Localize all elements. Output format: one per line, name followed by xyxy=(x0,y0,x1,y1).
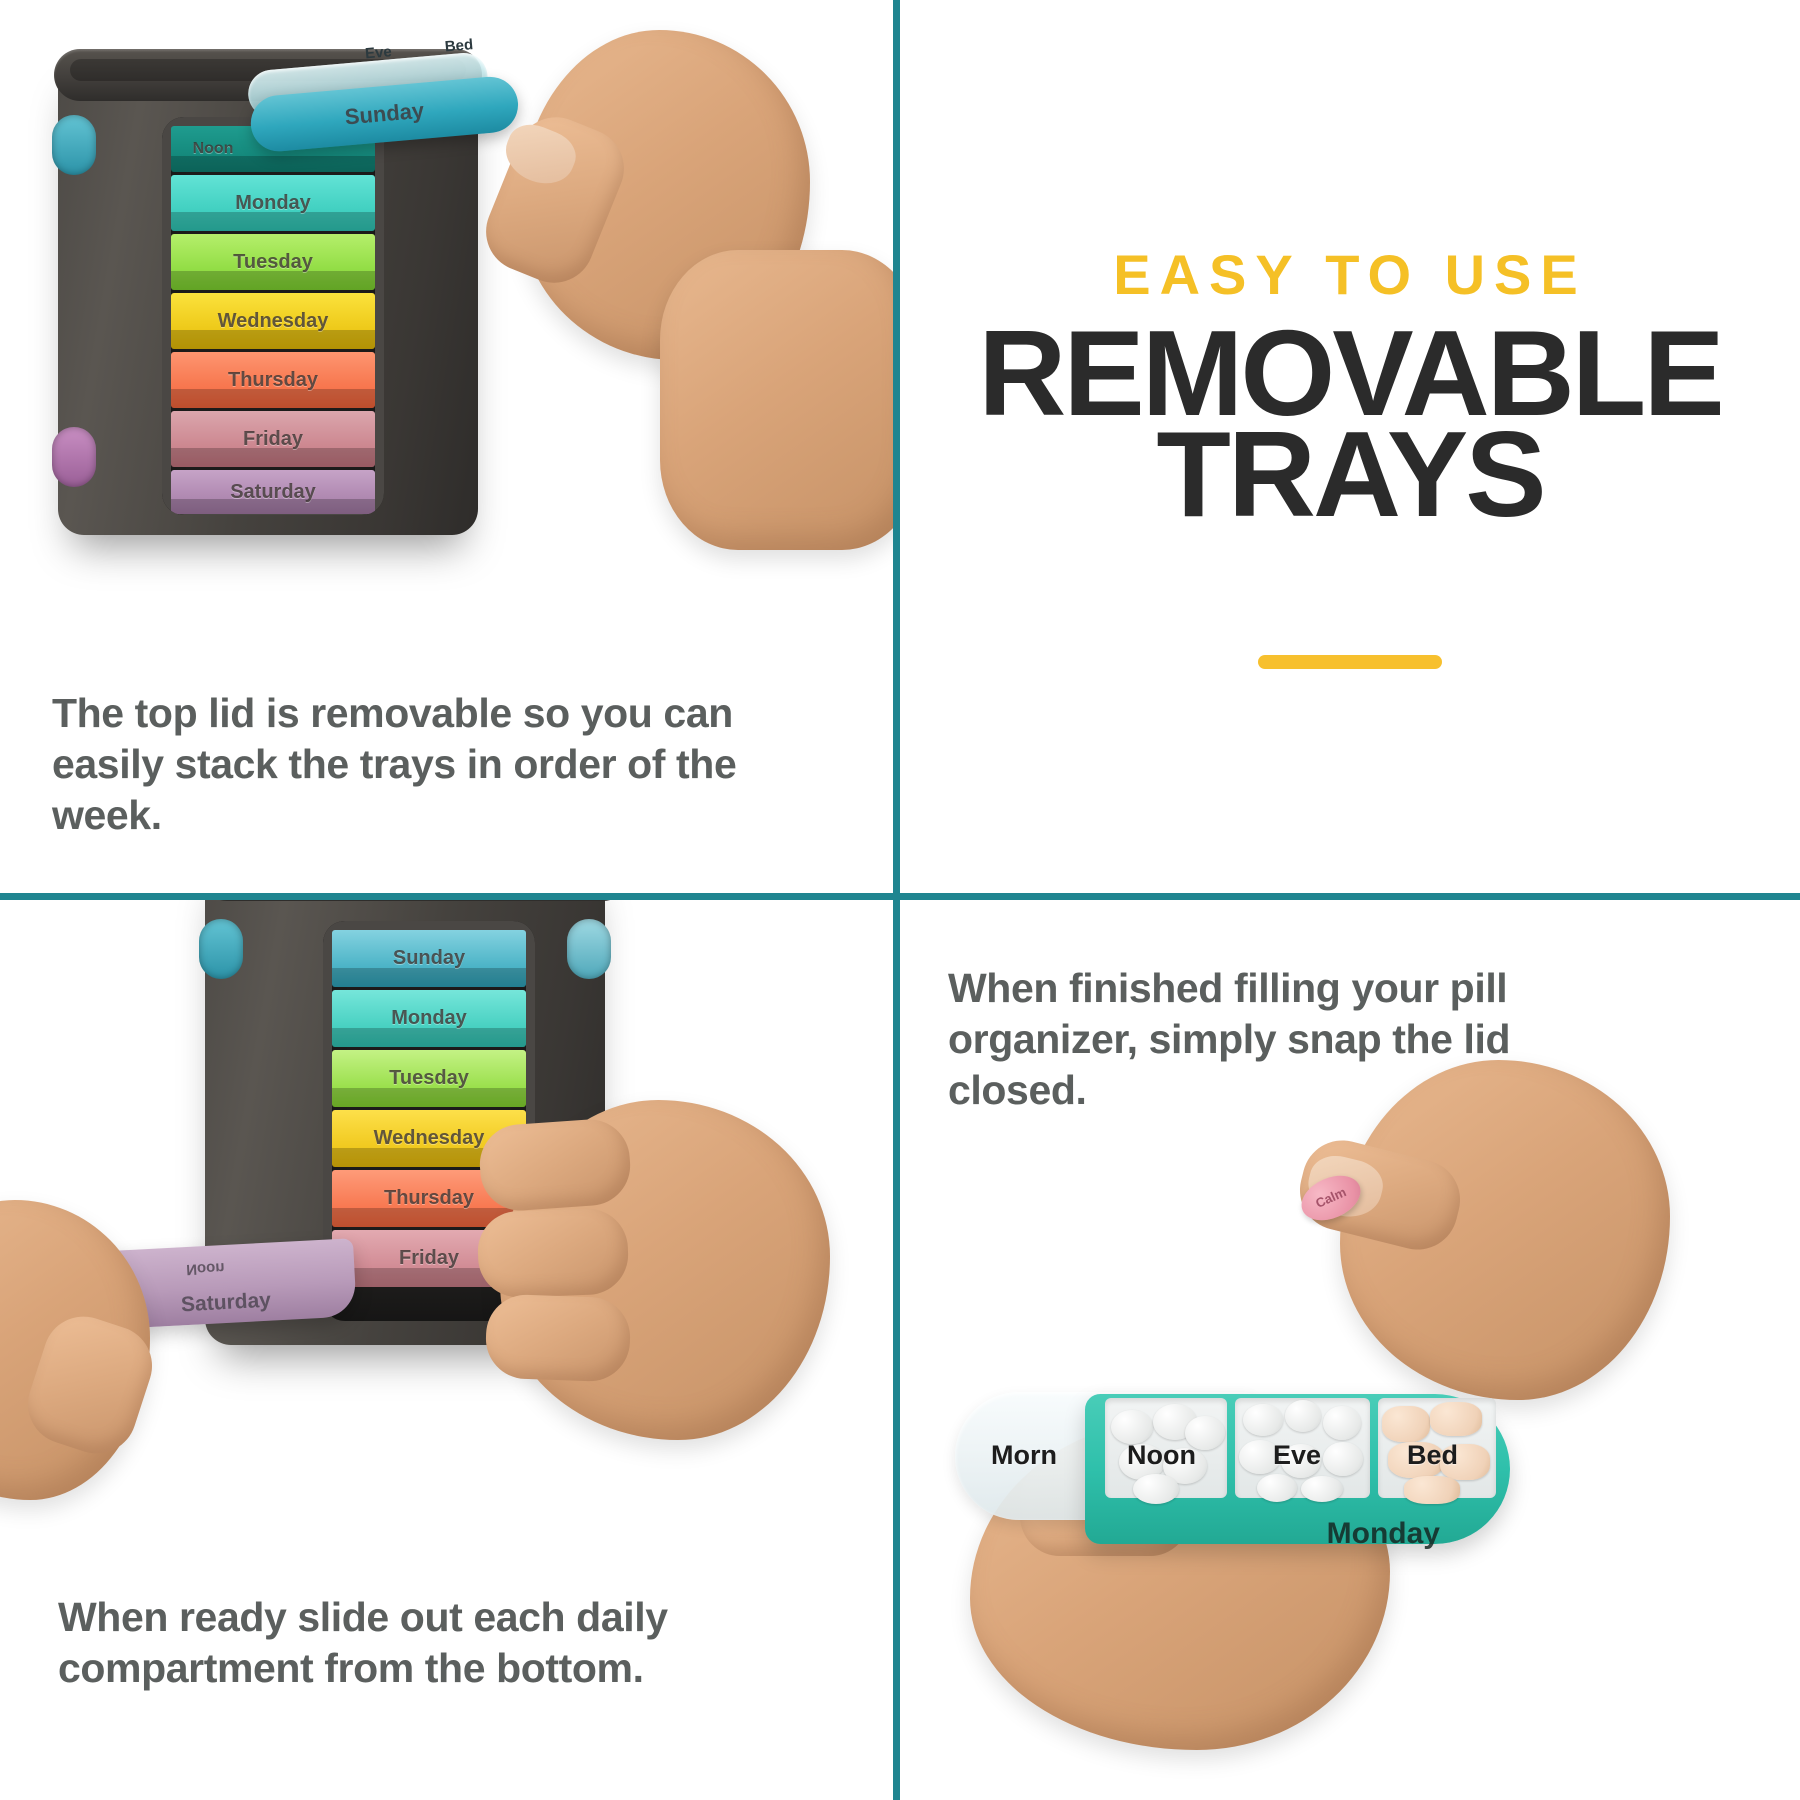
tray-row[interactable]: Friday xyxy=(171,411,375,467)
pill xyxy=(1285,1400,1321,1432)
monday-pill-tray[interactable]: Morn Noon Eve xyxy=(955,1392,1510,1567)
panel-top-right: EASY TO USE REMOVABLE TRAYS xyxy=(900,0,1800,893)
tray-day-label: Thursday xyxy=(228,369,318,392)
pill xyxy=(1404,1476,1460,1504)
compartment-label-eve: Eve xyxy=(1273,1440,1321,1471)
tray-row[interactable]: Thursday xyxy=(171,352,375,408)
headline-eyebrow: EASY TO USE xyxy=(900,242,1800,307)
vertical-divider xyxy=(893,0,900,1800)
side-cap-purple xyxy=(52,427,96,487)
tray-day-label: Wednesday xyxy=(374,1127,485,1150)
compartment-label-morn: Morn xyxy=(991,1440,1057,1471)
compartment-label-noon: Noon xyxy=(1127,1440,1196,1471)
tray-day-label: Monday xyxy=(1327,1517,1440,1551)
horizontal-divider xyxy=(0,893,1800,900)
finger-ring xyxy=(485,1294,632,1383)
accent-underline xyxy=(1258,655,1442,669)
tray-day-label: Thursday xyxy=(384,1187,474,1210)
headline-line-2: TRAYS xyxy=(900,417,1800,532)
caption-bottom-left: When ready slide out each daily compartm… xyxy=(58,1592,758,1694)
tray-row[interactable]: Monday xyxy=(332,990,526,1047)
tray-day-label: Friday xyxy=(399,1247,459,1270)
headline-block: EASY TO USE REMOVABLE TRAYS xyxy=(900,0,1800,893)
side-cap-teal xyxy=(199,919,243,979)
pill xyxy=(1243,1404,1283,1436)
tray-day-label: Monday xyxy=(391,1007,467,1030)
pill xyxy=(1323,1442,1363,1476)
infographic-canvas: Noon Monday Tuesday Wednesday Thursday xyxy=(0,0,1800,1800)
finger-middle xyxy=(477,1207,630,1298)
tray-stack: Noon Monday Tuesday Wednesday Thursday xyxy=(171,126,375,515)
pill xyxy=(1111,1410,1153,1444)
side-cap-teal xyxy=(52,115,96,175)
forearm-top-left xyxy=(660,250,893,550)
organizer-lid xyxy=(201,900,629,901)
finger-index xyxy=(477,1117,633,1213)
tray-row[interactable]: Monday xyxy=(171,175,375,231)
tray-row[interactable]: Sunday xyxy=(332,930,526,987)
tray-row[interactable]: Wednesday xyxy=(171,293,375,349)
pill xyxy=(1323,1406,1361,1440)
caption-top-left: The top lid is removable so you can easi… xyxy=(52,688,752,840)
pill xyxy=(1257,1474,1297,1502)
tray-day-label: Friday xyxy=(243,428,303,451)
tray-day-label: Sunday xyxy=(344,98,425,131)
tray-row[interactable]: Tuesday xyxy=(171,234,375,290)
tray-row[interactable]: Tuesday xyxy=(332,1050,526,1107)
panel-bottom-left: Sunday Monday Tuesday Wednesday Thursday xyxy=(0,900,893,1800)
pill xyxy=(1430,1402,1482,1436)
compartment-label-bed: Bed xyxy=(1407,1440,1458,1471)
tray-slot-noon: Noon xyxy=(186,1259,225,1278)
pill xyxy=(1382,1406,1430,1442)
organizer-window: Noon Monday Tuesday Wednesday Thursday xyxy=(162,117,384,515)
pill-imprint: Calm xyxy=(1313,1184,1348,1211)
tray-day-label: Sunday xyxy=(393,947,465,970)
pill xyxy=(1301,1476,1343,1502)
tray-day-label: Monday xyxy=(235,192,311,215)
side-cap-right-teal xyxy=(567,919,611,979)
tray-slot-eve: Eve xyxy=(364,43,392,62)
tray-row[interactable]: Saturday xyxy=(171,470,375,514)
panel-top-left: Noon Monday Tuesday Wednesday Thursday xyxy=(0,0,893,893)
tray-day-label: Wednesday xyxy=(218,310,329,333)
tray-slot-bed: Bed xyxy=(444,36,474,55)
removed-sunday-tray[interactable]: Eve Bed Sunday xyxy=(248,66,522,151)
tray-day-label: Saturday xyxy=(230,481,316,504)
tray-day-label: Tuesday xyxy=(233,251,313,274)
pill xyxy=(1133,1474,1179,1504)
panel-bottom-right: When finished filling your pill organize… xyxy=(900,900,1800,1800)
tray-day-label: Tuesday xyxy=(389,1067,469,1090)
tray-slot-label: Noon xyxy=(193,140,234,158)
